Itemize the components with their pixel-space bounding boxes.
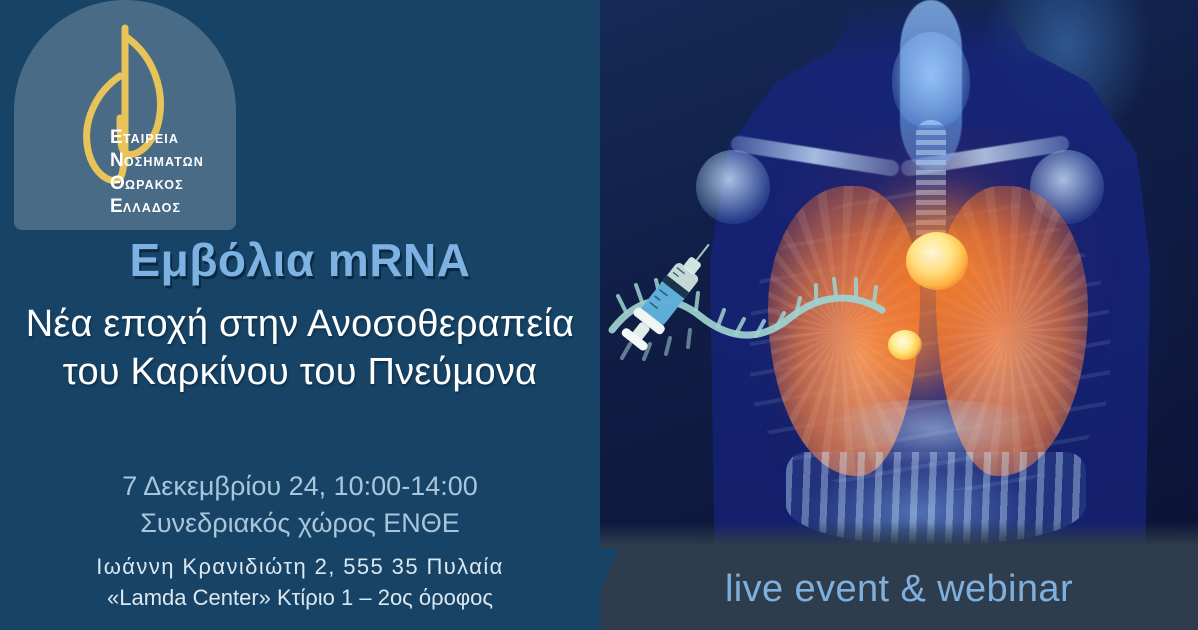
event-subtitle: Νέα εποχή στην Ανοσοθεραπεία του Καρκίνο…	[0, 300, 600, 397]
address-line-2: «Lamda Center» Κτίριο 1 – 2ος όροφος	[0, 582, 600, 613]
logo-word: ΩΡΑΚΟΣ	[125, 178, 184, 192]
event-address: Ιωάννη Κρανιδιώτη 2, 555 35 Πυλαία «Lamd…	[0, 551, 600, 613]
logo-initial: Θ	[110, 173, 125, 194]
event-datetime-venue: 7 Δεκεμβρίου 24, 10:00-14:00 Συνεδριακός…	[0, 468, 600, 543]
event-title: Εμβόλια mRNA	[0, 236, 600, 286]
logo-line-1: ΕΤΑΙΡΕΙΑ	[110, 128, 204, 147]
illustration-fade	[600, 522, 1198, 548]
logo-line-2: ΝΟΣΗΜΑΤΩΝ	[110, 151, 204, 170]
event-details: 7 Δεκεμβρίου 24, 10:00-14:00 Συνεδριακός…	[0, 468, 600, 613]
logo-initial: Ε	[110, 127, 123, 148]
event-banner: ΕΤΑΙΡΕΙΑ ΝΟΣΗΜΑΤΩΝ ΘΩΡΑΚΟΣ ΕΛΛΑΔΟΣ Εμβόλ…	[0, 0, 1198, 630]
headline-block: Εμβόλια mRNA Νέα εποχή στην Ανοσοθεραπεί…	[0, 236, 600, 397]
address-line-1: Ιωάννη Κρανιδιώτη 2, 555 35 Πυλαία	[0, 551, 600, 582]
logo-line-3: ΘΩΡΑΚΟΣ	[110, 174, 204, 193]
tumor-primary	[906, 232, 968, 290]
subtitle-line-2: του Καρκίνου του Πνεύμονα	[0, 348, 600, 397]
logo-line-4: ΕΛΛΑΔΟΣ	[110, 197, 204, 216]
event-venue: Συνεδριακός χώρος ΕΝΘΕ	[0, 505, 600, 542]
logo-initial: Ν	[110, 150, 124, 171]
event-datetime: 7 Δεκεμβρίου 24, 10:00-14:00	[0, 468, 600, 505]
syringe-icon	[612, 228, 722, 368]
logo-wordmark: ΕΤΑΙΡΕΙΑ ΝΟΣΗΜΑΤΩΝ ΘΩΡΑΚΟΣ ΕΛΛΑΔΟΣ	[110, 128, 204, 220]
event-format-caption: live event & webinar	[600, 548, 1198, 630]
logo-word: ΤΑΙΡΕΙΑ	[123, 132, 179, 146]
subtitle-line-1: Νέα εποχή στην Ανοσοθεραπεία	[0, 300, 600, 349]
shoulder-joint-left	[696, 150, 770, 224]
logo-word: ΛΛΑΔΟΣ	[123, 201, 181, 215]
logo-word: ΟΣΗΜΑΤΩΝ	[124, 155, 204, 169]
logo-initial: Ε	[110, 196, 123, 217]
organization-logo: ΕΤΑΙΡΕΙΑ ΝΟΣΗΜΑΤΩΝ ΘΩΡΑΚΟΣ ΕΛΛΑΔΟΣ	[14, 0, 236, 230]
